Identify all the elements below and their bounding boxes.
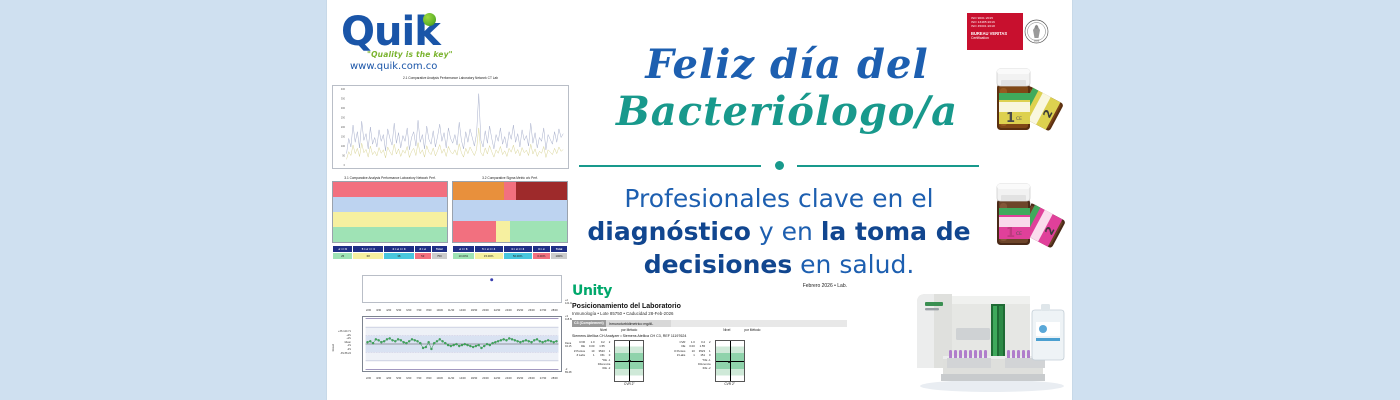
subheadline-part-3: en salud. bbox=[792, 250, 914, 279]
legend-td-0: 10.00% bbox=[453, 253, 475, 260]
x-tick-label: 4/30 bbox=[386, 309, 391, 312]
unity-col-3: por Método bbox=[744, 328, 760, 332]
x-tick-label: 20/30 bbox=[482, 377, 489, 380]
x-tick-label: 7/30 bbox=[416, 377, 421, 380]
lj-data-point bbox=[394, 340, 396, 342]
lj-minus-label: -2 89.48 bbox=[565, 368, 572, 374]
unity-qc-footer-row: IDE -2 bbox=[672, 366, 712, 370]
x-tick-label: 14/30 bbox=[459, 309, 466, 312]
block-pink bbox=[453, 221, 496, 242]
lj-data-point bbox=[397, 338, 399, 340]
quik-logo[interactable]: Quik "Quality is the key" www.quik.com.c… bbox=[335, 8, 505, 70]
unity-analyte-bar: C3 (Complement) Inmunoturbidimetrico mg/… bbox=[572, 320, 847, 327]
x-tick-label: 8/30 bbox=[426, 309, 431, 312]
x-tick-label: 3/30 bbox=[376, 377, 381, 380]
legend-td-4: 750 bbox=[431, 253, 447, 260]
lj-mean-label: Dana 94.15 bbox=[565, 342, 572, 348]
x-tick-label: 22/30 bbox=[494, 377, 501, 380]
lj-data-point bbox=[475, 345, 477, 347]
unity-report: Unity Febrero 2026 • Lab. Posicionamient… bbox=[572, 283, 847, 395]
unity-qc-box-1 bbox=[614, 340, 644, 382]
svg-text:CE: CE bbox=[1016, 231, 1022, 237]
legend-th-3: 3 > σ bbox=[414, 246, 431, 253]
certification-subtitle: Certification bbox=[971, 36, 1020, 41]
lj-data-point bbox=[530, 341, 532, 343]
x-tick-label: 14/30 bbox=[459, 377, 466, 380]
lj-data-point bbox=[478, 344, 480, 346]
legend-table-mid-right: σ >= 6 5 > σ >= 4 4 > σ >= 3 3 > σ Total… bbox=[452, 245, 568, 260]
lj-upper-axis-labels: 2/303/304/305/306/307/308/3010/3011/3014… bbox=[362, 309, 562, 312]
mid-charts-row: 3.1 Comparative Analysis Performance Lab… bbox=[332, 176, 569, 272]
legend-td-2: 50.00% bbox=[503, 253, 532, 260]
x-tick-label: 20/30 bbox=[482, 309, 489, 312]
x-tick-label: 26/30 bbox=[528, 309, 535, 312]
certification-red-panel: ISO 9001:2015 ISO 13485:2016 ISO 45001:2… bbox=[967, 13, 1023, 50]
chart-levey-jennings: +2 121.92 2/303/304/305/306/307/308/3010… bbox=[332, 275, 569, 393]
block-darkred bbox=[516, 182, 567, 200]
lj-data-point bbox=[380, 341, 382, 343]
lj-limit-label-stack: +3S 120.71+2S+1SMean-1S-2S-3S 88.24 bbox=[338, 330, 351, 355]
legend-th-0: σ >= 6 bbox=[333, 246, 353, 253]
x-tick-label: 10/30 bbox=[436, 377, 443, 380]
lj-data-point bbox=[508, 337, 510, 339]
qc-point bbox=[628, 360, 630, 362]
x-tick-label: 11/30 bbox=[448, 309, 454, 312]
lj-data-point bbox=[433, 342, 435, 344]
x-tick-label: 24/30 bbox=[505, 377, 512, 380]
lj-data-point bbox=[416, 340, 418, 342]
subheadline-part-1: Profesionales clave en el bbox=[624, 184, 933, 213]
legend-th-1: 5 > σ >= 4 bbox=[474, 246, 503, 253]
lj-data-point bbox=[444, 342, 446, 344]
legend-th-2: 4 > σ >= 3 bbox=[503, 246, 532, 253]
svg-text:1: 1 bbox=[1006, 111, 1015, 126]
lj-data-point bbox=[411, 338, 413, 340]
lj-data-point bbox=[519, 341, 521, 343]
lj-data-point bbox=[369, 340, 371, 342]
reagent-vials-level-1-2-pink: 2 1 CE bbox=[975, 175, 1070, 267]
x-tick-label: 8/30 bbox=[426, 377, 431, 380]
legend-header-row: σ >= 6 5 > σ >= 4 4 > σ >= 3 3 > σ Total bbox=[333, 246, 448, 253]
legend-td-4: 100% bbox=[551, 253, 568, 260]
lj-data-point bbox=[486, 343, 488, 345]
band-sigma-ge-6 bbox=[333, 227, 447, 242]
x-tick-label: 4/30 bbox=[386, 377, 391, 380]
website-url[interactable]: www.quik.com.co bbox=[350, 61, 437, 72]
x-tick-label: 25/30 bbox=[517, 377, 524, 380]
lj-ylabel: Result bbox=[332, 344, 335, 351]
lj-data-point bbox=[542, 341, 544, 343]
lj-data-point bbox=[450, 345, 452, 347]
block-blue bbox=[453, 200, 567, 221]
bureau-veritas-seal-icon: 1828 bbox=[1023, 13, 1049, 50]
certification-badge: ISO 9001:2015 ISO 13485:2016 ISO 45001:2… bbox=[967, 13, 1049, 50]
lj-data-point bbox=[511, 338, 513, 340]
legend-table-mid-left: σ >= 6 5 > σ >= 4 4 > σ >= 3 3 > σ Total… bbox=[332, 245, 448, 260]
chart-mid-left-plot bbox=[332, 181, 448, 243]
white-content-card: Quik "Quality is the key" www.quik.com.c… bbox=[327, 0, 1072, 400]
chart-comparative-analysis-ct-lab: 2.1 Comparative Analysis Performance Lab… bbox=[332, 76, 569, 173]
chart-lj-main-plot bbox=[362, 316, 562, 372]
legend-th-4: Total bbox=[431, 246, 447, 253]
x-tick-label: 25/30 bbox=[517, 309, 524, 312]
y-tick-label: 400 bbox=[341, 88, 346, 91]
chart-sigma-metric: 3.2 Comparative Sigma Metric σ/c Perf. σ… bbox=[452, 176, 568, 272]
lj-data-point bbox=[483, 345, 485, 347]
decorative-divider bbox=[579, 161, 979, 171]
y-tick-label: 250 bbox=[341, 117, 346, 120]
x-tick-label: 18/30 bbox=[471, 377, 478, 380]
lj-data-point bbox=[461, 344, 463, 346]
banner-stage: Quik "Quality is the key" www.quik.com.c… bbox=[0, 0, 1400, 400]
x-tick-label: 18/30 bbox=[471, 309, 478, 312]
lj-data-point bbox=[430, 348, 432, 350]
x-tick-label: 2/30 bbox=[366, 377, 371, 380]
x-tick-label: 11/30 bbox=[448, 377, 454, 380]
legend-th-3: 3 > σ bbox=[532, 246, 550, 253]
lj-data-point bbox=[497, 340, 499, 342]
unity-logo: Unity bbox=[572, 283, 612, 299]
legend-td-1: 15.00% bbox=[474, 253, 503, 260]
lj-data-point bbox=[414, 339, 416, 341]
x-tick-label: 6/30 bbox=[406, 309, 411, 312]
legend-td-2: 38 bbox=[384, 253, 415, 260]
lj-data-point bbox=[391, 339, 393, 341]
x-tick-label: 28/30 bbox=[551, 309, 558, 312]
divider-line-right bbox=[797, 165, 979, 167]
legend-th-4: Total bbox=[551, 246, 568, 253]
lj-data-point bbox=[439, 338, 441, 340]
headline: Feliz día del Bacteriólogo/a bbox=[577, 42, 997, 136]
lj-main-axis-labels: 2/303/304/305/306/307/308/3010/3011/3014… bbox=[362, 377, 562, 380]
lj-data-point bbox=[469, 345, 471, 347]
lj-data-point bbox=[386, 338, 388, 340]
lj-limit-label: -3S 88.24 bbox=[338, 352, 351, 356]
block-orange bbox=[453, 182, 504, 200]
band-sigma-5-4 bbox=[333, 212, 447, 227]
lj-data-point bbox=[428, 341, 430, 343]
x-tick-label: 3/30 bbox=[376, 309, 381, 312]
svg-text:1828: 1828 bbox=[1033, 40, 1039, 43]
lj-data-point bbox=[403, 341, 405, 343]
unity-qc-group-2: CVR1.00.22DE0.001.55# Puntos1035231# Lab… bbox=[672, 340, 744, 386]
lj-data-point bbox=[425, 346, 427, 348]
lj-data-point bbox=[547, 339, 549, 341]
unity-qc-footer-row: IDE -2 bbox=[572, 366, 612, 370]
lj-data-point bbox=[525, 339, 527, 341]
lj-data-point bbox=[372, 342, 374, 344]
logo-tagline: "Quality is the key" bbox=[367, 50, 453, 59]
chart-lj-upper-plot bbox=[362, 275, 562, 303]
lj-data-point bbox=[464, 343, 466, 345]
lj-data-point bbox=[517, 340, 519, 342]
x-tick-label: 6/30 bbox=[406, 377, 411, 380]
lj-data-point bbox=[441, 340, 443, 342]
x-tick-label: 27/30 bbox=[540, 309, 547, 312]
legend-td-3: 0.00% bbox=[532, 253, 550, 260]
unity-col-0: Nivel bbox=[600, 328, 607, 332]
unity-report-title: Posicionamiento del Laboratorio bbox=[572, 303, 847, 310]
x-tick-label: 28/30 bbox=[551, 377, 558, 380]
chart-mid-right-plot bbox=[452, 181, 568, 243]
divider-dot-icon bbox=[775, 161, 784, 170]
unity-qc-table-2: CVR1.00.22DE0.001.55# Puntos1035231# Lab… bbox=[672, 340, 712, 370]
lj-data-point bbox=[503, 338, 505, 340]
divider-line-left bbox=[579, 165, 761, 167]
subheadline-bold-1: diagnóstico bbox=[587, 217, 751, 246]
unity-col-2: Nivel bbox=[723, 328, 730, 332]
lj-data-point bbox=[405, 342, 407, 344]
lj-data-point bbox=[555, 340, 557, 342]
unity-qc-group-1: CVR1.00.22DE0.001.55# Puntos1035231# Lab… bbox=[572, 340, 644, 386]
unity-report-date: Febrero 2026 • Lab. bbox=[803, 283, 847, 289]
legend-value-row: 25 68 38 53 750 bbox=[333, 253, 448, 260]
lj-data-point bbox=[522, 340, 524, 342]
x-tick-label: 27/30 bbox=[540, 377, 547, 380]
unity-qc-box-2 bbox=[715, 340, 745, 382]
lj-data-point bbox=[544, 340, 546, 342]
lj-data-point bbox=[539, 340, 541, 342]
reagent-vials-level-1-2-yellow: 2 1 CE bbox=[975, 62, 1070, 152]
block-yellow bbox=[496, 221, 510, 242]
lj-data-point bbox=[472, 346, 474, 348]
logo-green-dot-icon bbox=[423, 13, 436, 26]
unity-col-1: por Método bbox=[621, 328, 637, 332]
lj-data-point bbox=[383, 340, 385, 342]
unity-report-subtitle: Inmunología • Lote 85750 • Caducidad 28-… bbox=[572, 311, 847, 316]
lj-data-point bbox=[419, 342, 421, 344]
x-tick-label: 26/30 bbox=[528, 377, 535, 380]
unity-column-headers: Nivel por Método Nivel por Método bbox=[572, 328, 847, 332]
svg-text:CE: CE bbox=[1016, 116, 1022, 122]
x-tick-label: 7/30 bbox=[416, 309, 421, 312]
hematology-analyzer-image bbox=[907, 278, 1072, 396]
lj-data-point bbox=[528, 340, 530, 342]
lj-data-point bbox=[494, 341, 496, 343]
x-tick-label: 24/30 bbox=[505, 309, 512, 312]
subheadline: Profesionales clave en el diagnóstico y … bbox=[579, 182, 979, 281]
lj-data-point bbox=[536, 338, 538, 340]
lj-data-point bbox=[455, 343, 457, 345]
y-tick-label: 200 bbox=[341, 126, 346, 129]
legend-th-2: 4 > σ >= 3 bbox=[384, 246, 415, 253]
unity-qc-footer-cell: IDE -2 bbox=[572, 366, 612, 370]
lj-data-point bbox=[466, 344, 468, 346]
lj-data-point bbox=[458, 345, 460, 347]
y-tick-label: 0 bbox=[344, 164, 346, 167]
lj-data-point bbox=[550, 340, 552, 342]
legend-th-0: σ >= 6 bbox=[453, 246, 475, 253]
lj-data-point bbox=[375, 338, 377, 340]
chart-performance-network: 3.1 Comparative Analysis Performance Lab… bbox=[332, 176, 448, 272]
unity-analyte-method: Inmunoturbidimetrico mg/dL bbox=[609, 322, 654, 326]
lj-data-point bbox=[453, 344, 455, 346]
lj-data-point bbox=[447, 344, 449, 346]
legend-td-1: 68 bbox=[353, 253, 384, 260]
unity-cvr-label-1: CVR 2" bbox=[614, 382, 644, 386]
lj-data-point bbox=[422, 347, 424, 349]
unity-qc-footer-cell: IDE -2 bbox=[672, 366, 712, 370]
chart-top-plot: 400350300250200150100500 bbox=[332, 85, 569, 169]
lj-data-point bbox=[408, 340, 410, 342]
lj-data-point bbox=[505, 339, 507, 341]
lj-data-point bbox=[553, 341, 555, 343]
lj-data-point bbox=[378, 339, 380, 341]
lj-data-point bbox=[436, 340, 438, 342]
x-tick-label: 5/30 bbox=[396, 309, 401, 312]
lj-data-point bbox=[533, 339, 535, 341]
subheadline-part-2: y en bbox=[751, 217, 821, 246]
x-tick-label: 22/30 bbox=[494, 309, 501, 312]
y-tick-label: 350 bbox=[341, 98, 346, 101]
series-lab bbox=[347, 128, 564, 159]
legend-th-1: 5 > σ >= 4 bbox=[353, 246, 384, 253]
lj-data-point bbox=[389, 337, 391, 339]
legend-header-row: σ >= 6 5 > σ >= 4 4 > σ >= 3 3 > σ Total bbox=[453, 246, 568, 253]
y-tick-label: 100 bbox=[341, 145, 346, 148]
x-tick-label: 5/30 bbox=[396, 377, 401, 380]
headline-line-2: Bacteriólogo/a bbox=[577, 88, 997, 136]
lj-data-point bbox=[492, 342, 494, 344]
unity-cvr-label-2: CVR 2" bbox=[715, 382, 745, 386]
legend-value-row: 10.00% 15.00% 50.00% 0.00% 100% bbox=[453, 253, 568, 260]
y-tick-label: 50 bbox=[342, 155, 345, 158]
block-green bbox=[510, 221, 567, 242]
legend-td-3: 53 bbox=[414, 253, 431, 260]
block-pink-small bbox=[504, 182, 515, 200]
lj-data-point bbox=[480, 347, 482, 349]
lj-data-point bbox=[500, 339, 502, 341]
x-tick-label: 10/30 bbox=[436, 309, 443, 312]
unity-qc-table-1: CVR1.00.22DE0.001.55# Puntos1035231# Lab… bbox=[572, 340, 612, 370]
legend-td-0: 25 bbox=[333, 253, 353, 260]
svg-text:1: 1 bbox=[1006, 226, 1015, 241]
band-sigma-4-3 bbox=[333, 197, 447, 212]
lj-data-point bbox=[400, 339, 402, 341]
x-tick-label: 2/30 bbox=[366, 309, 371, 312]
headline-line-1: Feliz día del bbox=[577, 42, 997, 88]
lj-data-point bbox=[366, 341, 368, 343]
unity-analyte-tag: C3 (Complement) bbox=[572, 320, 606, 327]
unity-instrument: Siemens Atellica CH Analyzer • Siemens A… bbox=[572, 334, 847, 338]
band-sigma-lt-3 bbox=[333, 182, 447, 197]
y-tick-label: 300 bbox=[341, 107, 346, 110]
iso-line-3: ISO 45001:2018 bbox=[971, 24, 1020, 28]
lj-data-point bbox=[514, 339, 516, 341]
y-tick-label: 150 bbox=[341, 136, 346, 139]
lj-data-point bbox=[489, 344, 491, 346]
